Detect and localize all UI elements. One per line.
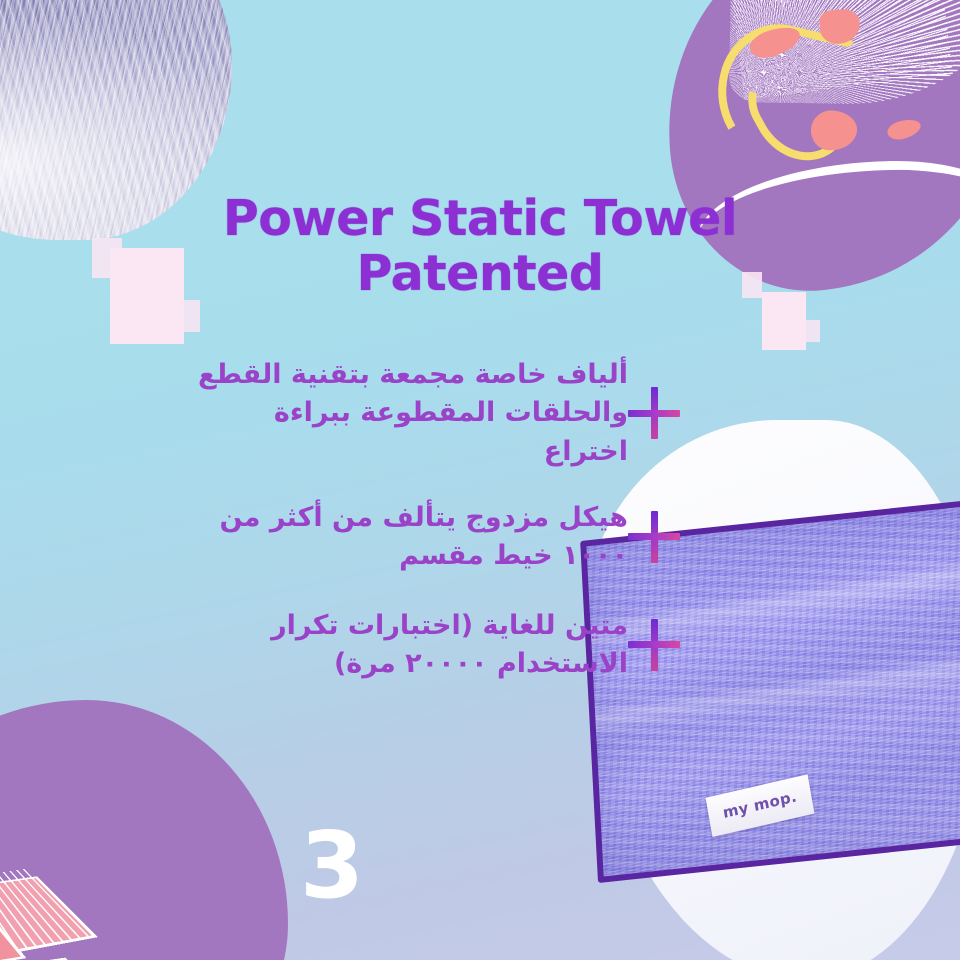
fabric-layers-illustration [0,846,132,960]
page-number: 3 [300,820,364,912]
feature-item-text: هيكل مزدوج يتألف من أكثر من ١٠٠٠ خيط مقس… [162,499,628,576]
plus-icon [628,511,680,563]
plus-icon [628,619,680,671]
sparkle-icon [804,320,820,342]
brand-tag: my mop. [706,774,815,837]
fabric-layers-blob [0,700,288,960]
feature-item: متين للغاية (اختبارات تكرار الاستخدام ٢٠… [120,603,680,687]
page-title: Power Static Towel Patented [0,192,960,302]
feature-item: هيكل مزدوج يتألف من أكثر من ١٠٠٠ خيط مقس… [120,495,680,579]
title-line-2: Patented [0,247,960,302]
title-line-1: Power Static Towel [223,190,737,247]
feature-item-text: ألياف خاصة مجمعة بتقنية القطع والحلقات ا… [162,356,628,471]
poster-canvas: my mop. Power Static Towel Patented أليا… [0,0,960,960]
feature-item-text: متين للغاية (اختبارات تكرار الاستخدام ٢٠… [162,607,628,684]
plus-icon [628,387,680,439]
pink-debris-icon [886,117,923,142]
sparkle-icon [176,300,200,332]
brand-tag-label: my mop. [722,791,798,821]
feature-item: ألياف خاصة مجمعة بتقنية القطع والحلقات ا… [120,356,680,471]
feature-list: ألياف خاصة مجمعة بتقنية القطع والحلقات ا… [120,356,680,711]
